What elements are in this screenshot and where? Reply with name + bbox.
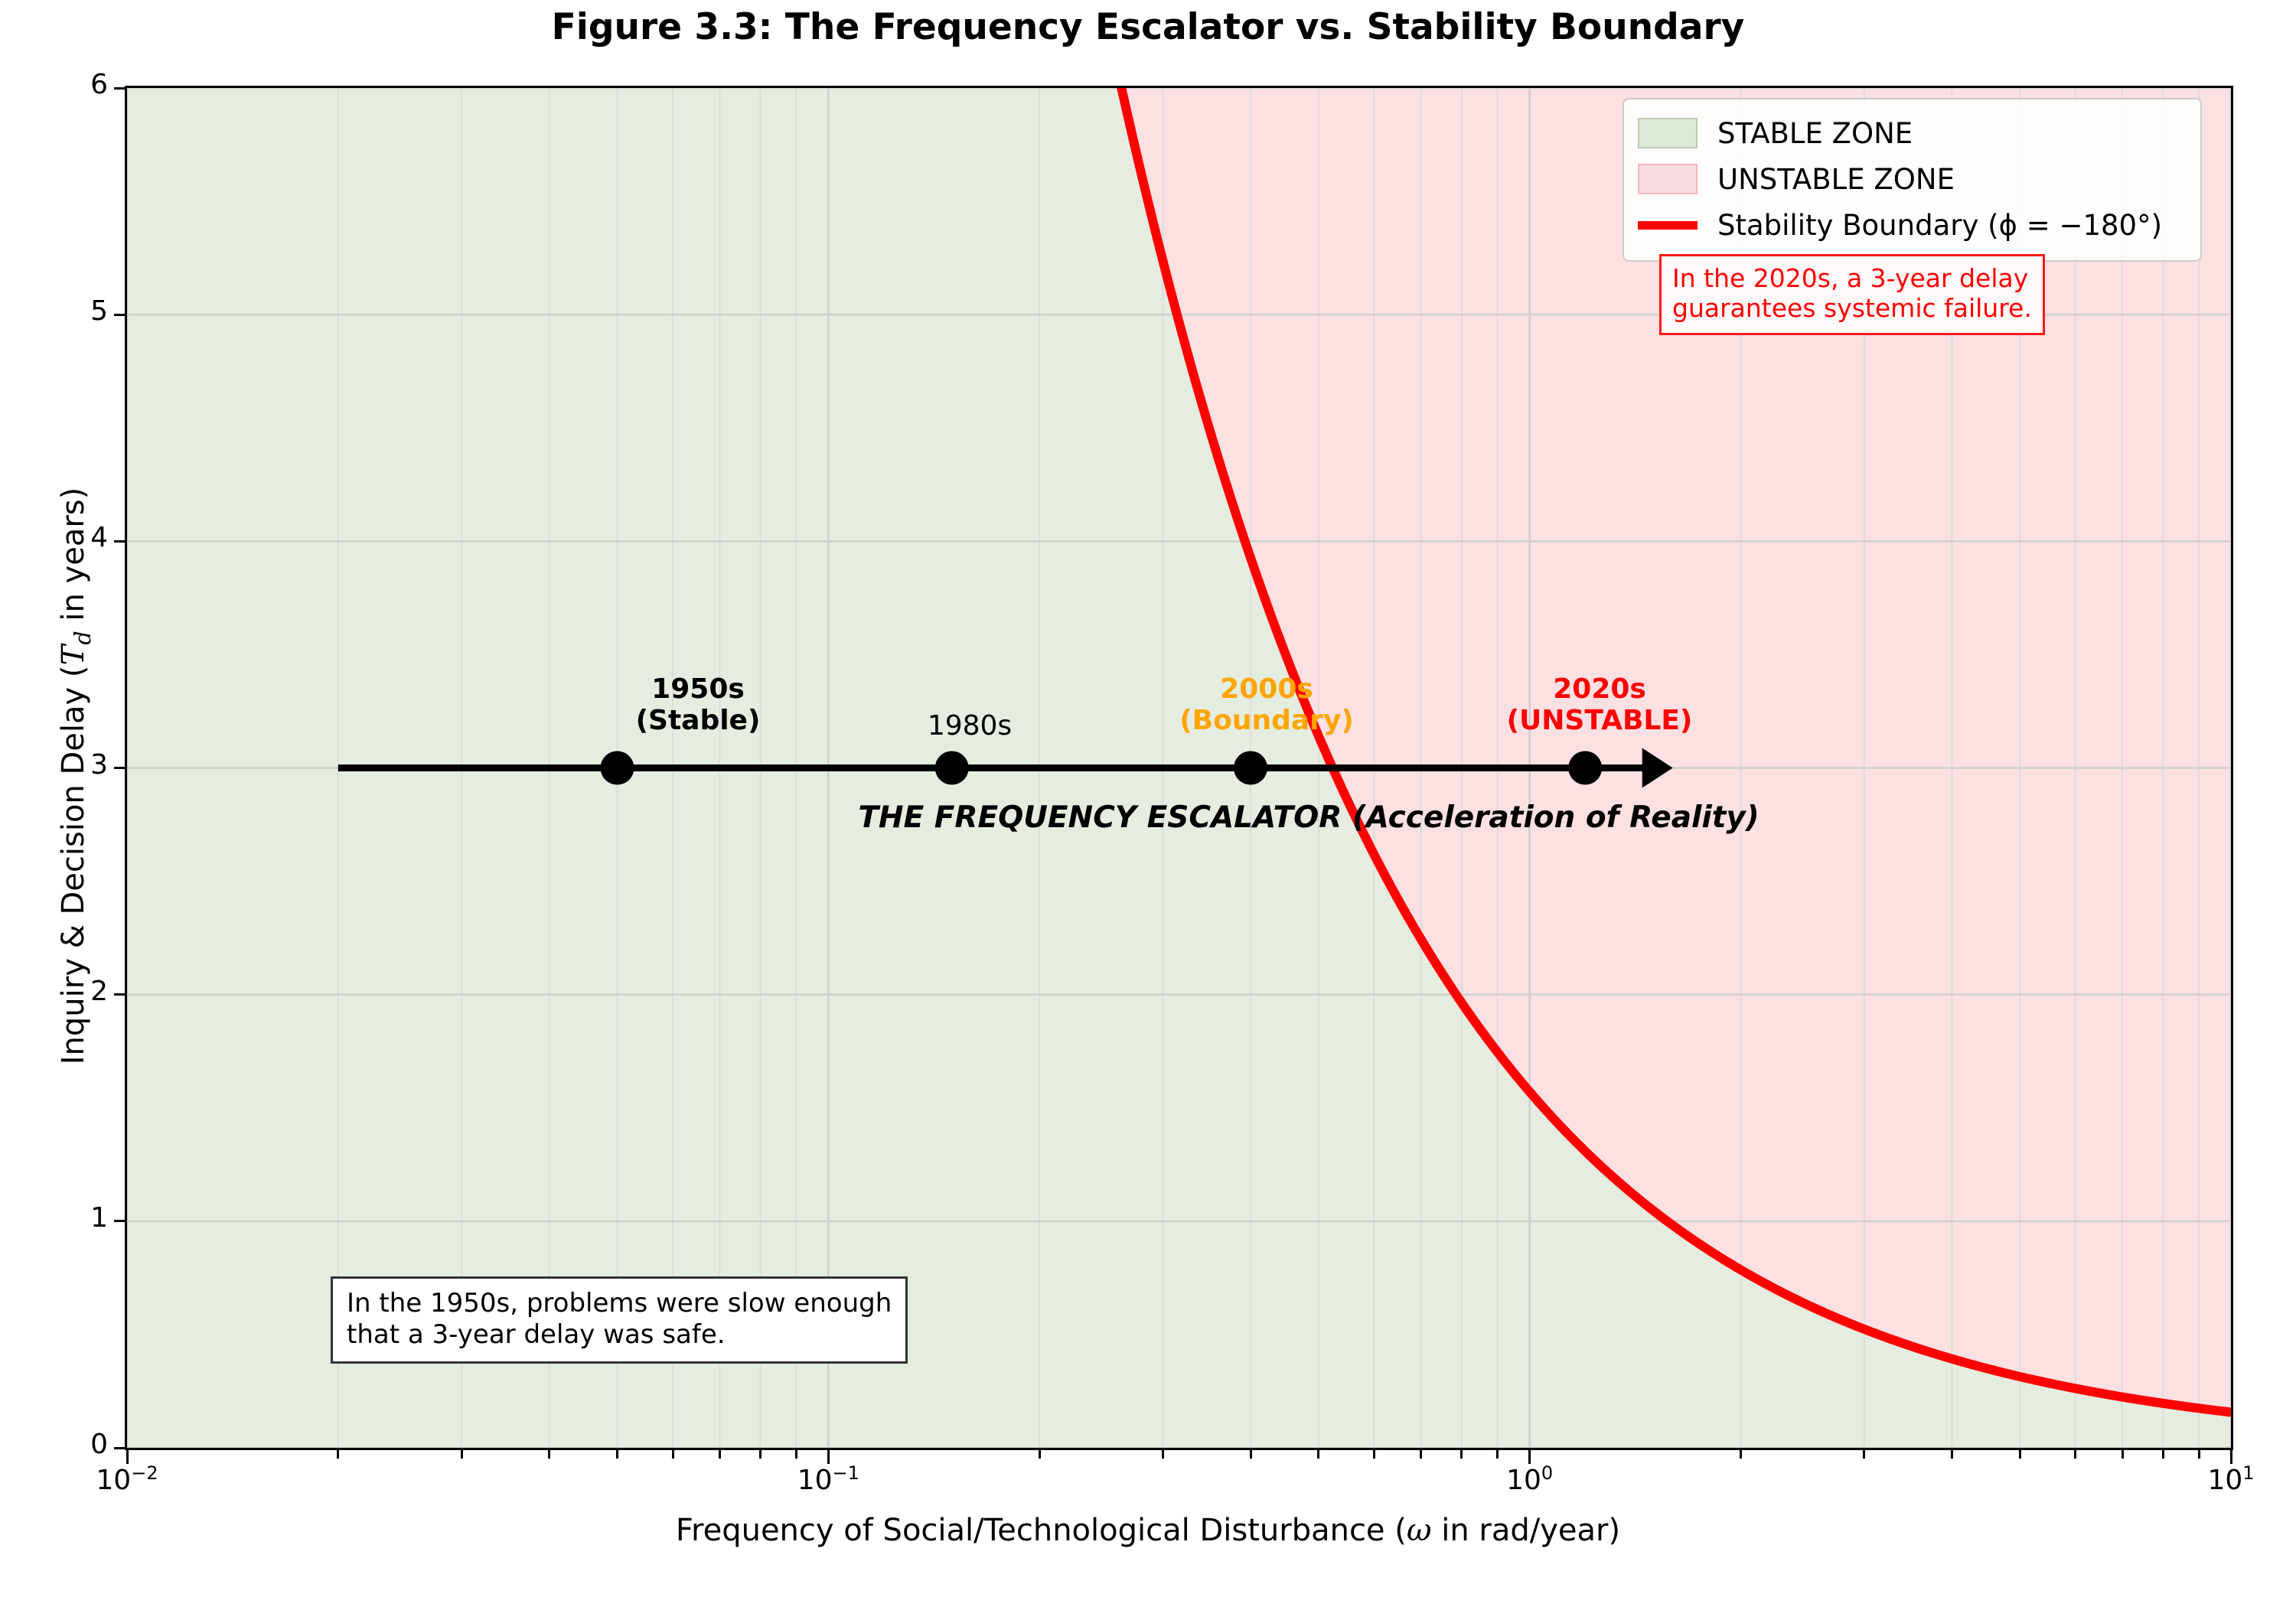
y-tick-mark xyxy=(114,1447,125,1449)
stable-zone-swatch xyxy=(1638,118,1698,148)
x-tick-mark xyxy=(1951,1450,1953,1459)
x-tick-mark xyxy=(1039,1450,1041,1459)
x-tick-mark xyxy=(126,1450,129,1464)
era-label-status: (UNSTABLE) xyxy=(1385,705,1814,736)
x-tick-mark xyxy=(1373,1450,1375,1459)
chart-legend[interactable]: STABLE ZONE UNSTABLE ZONE Stability Boun… xyxy=(1623,98,2202,262)
x-tick-mark xyxy=(795,1450,797,1459)
x-tick-mark xyxy=(1496,1450,1499,1459)
era-label-2020s: 2020s(UNSTABLE) xyxy=(1385,673,1814,736)
x-tick-mark xyxy=(2074,1450,2076,1459)
x-tick-mark xyxy=(1317,1450,1319,1459)
stable-annotation-line1: In the 1950s, problems were slow enough xyxy=(347,1288,892,1319)
y-axis-title-pre: Inquiry & Decision Delay ( xyxy=(56,665,91,1064)
escalator-marker xyxy=(1568,751,1602,785)
y-tick-mark xyxy=(114,314,125,316)
stable-annotation-box: In the 1950s, problems were slow enough … xyxy=(331,1276,908,1364)
x-tick-mark xyxy=(719,1450,721,1459)
y-tick-mark xyxy=(114,1220,125,1222)
x-tick-mark xyxy=(1460,1450,1463,1459)
x-tick-mark xyxy=(1250,1450,1252,1459)
x-axis-title-pre: Frequency of Social/Technological Distur… xyxy=(676,1513,1407,1548)
x-tick-mark xyxy=(1528,1450,1531,1464)
unstable-annotation-line2: guarantees systemic failure. xyxy=(1672,294,2032,324)
x-tick-mark xyxy=(2162,1450,2164,1459)
x-tick-mark xyxy=(1162,1450,1164,1459)
x-tick-label: 100 xyxy=(1438,1462,1622,1496)
x-tick-mark xyxy=(672,1450,674,1459)
x-tick-mark xyxy=(1420,1450,1422,1459)
x-tick-mark xyxy=(2019,1450,2021,1459)
y-axis-title-sub: d xyxy=(70,631,96,644)
x-tick-label: 101 xyxy=(2139,1462,2296,1496)
legend-item-stability-boundary[interactable]: Stability Boundary (ϕ = −180°) xyxy=(1638,202,2187,248)
stability-boundary-swatch xyxy=(1638,221,1698,230)
era-label-name: 1950s xyxy=(484,673,912,705)
x-tick-mark xyxy=(827,1450,830,1464)
legend-label-unstable-zone: UNSTABLE ZONE xyxy=(1717,163,1955,196)
y-axis-title: Inquiry & Decision Delay (Td in years) xyxy=(56,41,96,1511)
page-title: Figure 3.3: The Frequency Escalator vs. … xyxy=(0,6,2296,48)
escalator-marker xyxy=(1234,751,1267,785)
y-axis-title-var: T xyxy=(56,645,91,666)
y-tick-mark xyxy=(114,540,125,543)
x-tick-mark xyxy=(2198,1450,2200,1459)
figure-root: Figure 3.3: The Frequency Escalator vs. … xyxy=(0,0,2296,1607)
unstable-annotation-line1: In the 2020s, a 3-year delay xyxy=(1672,264,2032,294)
x-tick-mark xyxy=(759,1450,762,1459)
legend-item-stable-zone[interactable]: STABLE ZONE xyxy=(1638,110,2187,156)
x-axis-title-post: in rad/year) xyxy=(1432,1513,1621,1548)
escalator-caption: THE FREQUENCY ESCALATOR (Acceleration of… xyxy=(811,800,1806,835)
y-tick-mark xyxy=(114,87,125,90)
x-tick-mark xyxy=(548,1450,550,1459)
legend-label-stability-boundary: Stability Boundary (ϕ = −180°) xyxy=(1717,209,2162,242)
legend-label-stable-zone: STABLE ZONE xyxy=(1717,117,1913,150)
x-tick-mark xyxy=(461,1450,463,1459)
x-tick-mark xyxy=(2122,1450,2124,1459)
y-axis-title-post: in years) xyxy=(56,487,91,631)
x-tick-mark xyxy=(337,1450,339,1459)
x-tick-label: 10−1 xyxy=(736,1462,920,1496)
stable-annotation-line2: that a 3-year delay was safe. xyxy=(347,1319,892,1351)
escalator-marker xyxy=(600,751,634,785)
y-tick-mark xyxy=(114,993,125,996)
x-axis-title-var: ω xyxy=(1407,1513,1432,1548)
x-tick-mark xyxy=(616,1450,618,1459)
x-axis-title: Frequency of Social/Technological Distur… xyxy=(0,1513,2296,1548)
unstable-zone-swatch xyxy=(1638,164,1698,194)
x-tick-mark xyxy=(2230,1450,2232,1464)
legend-item-unstable-zone[interactable]: UNSTABLE ZONE xyxy=(1638,156,2187,202)
era-label-name: 2020s xyxy=(1385,673,1814,705)
unstable-annotation-box: In the 2020s, a 3-year delay guarantees … xyxy=(1659,254,2045,335)
x-tick-mark xyxy=(1740,1450,1742,1459)
escalator-marker xyxy=(935,751,969,785)
y-tick-mark xyxy=(114,767,125,769)
x-tick-mark xyxy=(1863,1450,1865,1459)
